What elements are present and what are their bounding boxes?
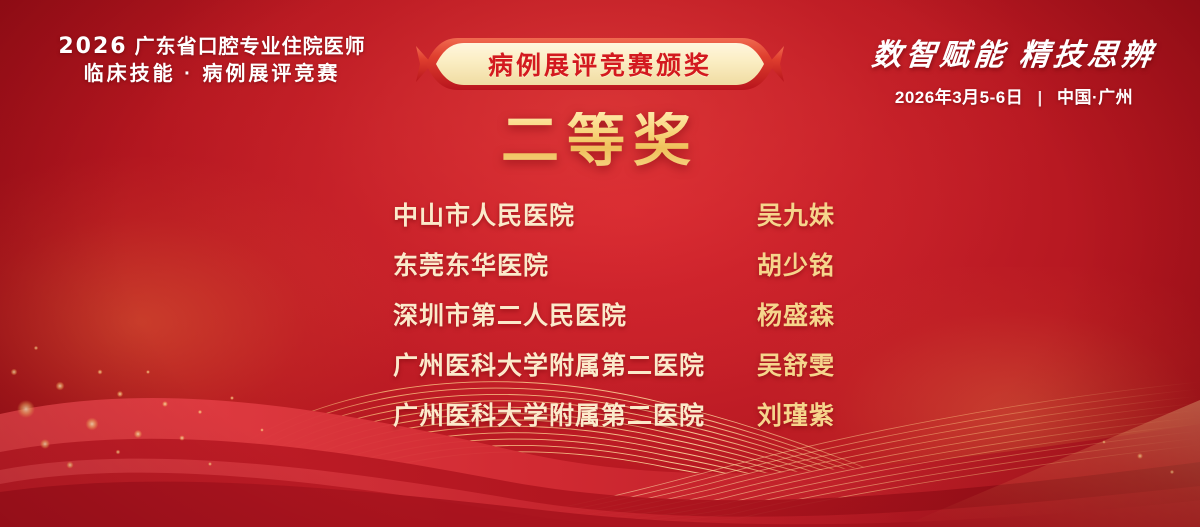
wave-band-2 — [0, 439, 1200, 527]
wave-band-3 — [0, 482, 1200, 527]
winner-organization: 广州医科大学附属第二医院 — [393, 346, 705, 382]
winner-row: 东莞东华医院 胡少铭 — [365, 246, 835, 296]
winner-name: 吴九妹 — [743, 196, 835, 232]
winner-organization: 深圳市第二人民医院 — [393, 296, 627, 332]
separator: | — [1037, 88, 1042, 107]
winner-organization: 东莞东华医院 — [393, 246, 549, 282]
award-slide: 2026 广东省口腔专业住院医师 临床技能 · 病例展评竞赛 — [0, 0, 1200, 527]
header: 2026 广东省口腔专业住院医师 临床技能 · 病例展评竞赛 — [0, 0, 1200, 112]
winner-list: 中山市人民医院 吴九妹 东莞东华医院 胡少铭 深圳市第二人民医院 杨盛森 广州医… — [0, 196, 1200, 446]
winner-name: 杨盛森 — [743, 296, 835, 332]
award-title: 二等奖 — [0, 112, 1200, 170]
event-brand-lockup: 2026 广东省口腔专业住院医师 临床技能 · 病例展评竞赛 — [32, 34, 392, 88]
slogan-block: 数智赋能 精技思辨 2026年3月5-6日 | 中国·广州 — [864, 30, 1164, 108]
winner-organization: 中山市人民医院 — [393, 196, 575, 232]
event-date: 2026年3月5-6日 — [895, 88, 1023, 107]
brand-line-2: 临床技能 · 病例展评竞赛 — [32, 61, 392, 88]
event-date-location: 2026年3月5-6日 | 中国·广州 — [864, 83, 1164, 108]
brand-year: 2026 — [58, 34, 127, 59]
winner-name: 吴舒雯 — [743, 346, 835, 382]
brand-line-1: 2026 广东省口腔专业住院医师 — [32, 34, 392, 59]
winner-name: 胡少铭 — [743, 246, 835, 282]
slogan-calligraphy: 数智赋能 精技思辨 — [862, 30, 1167, 74]
winner-row: 广州医科大学附属第二医院 刘瑾紫 — [365, 396, 835, 446]
brand-title-main: 广东省口腔专业住院医师 — [135, 36, 366, 59]
winner-row: 广州医科大学附属第二医院 吴舒雯 — [365, 346, 835, 396]
plaque-label: 病例展评竞赛颁奖 — [414, 36, 786, 92]
winner-name: 刘瑾紫 — [743, 396, 835, 432]
event-location: 中国·广州 — [1057, 88, 1133, 107]
wave-crest — [0, 459, 1200, 527]
winner-organization: 广州医科大学附属第二医院 — [393, 396, 705, 432]
winner-row: 深圳市第二人民医院 杨盛森 — [365, 296, 835, 346]
winner-row: 中山市人民医院 吴九妹 — [365, 196, 835, 246]
ceremony-plaque: 病例展评竞赛颁奖 — [414, 36, 786, 92]
